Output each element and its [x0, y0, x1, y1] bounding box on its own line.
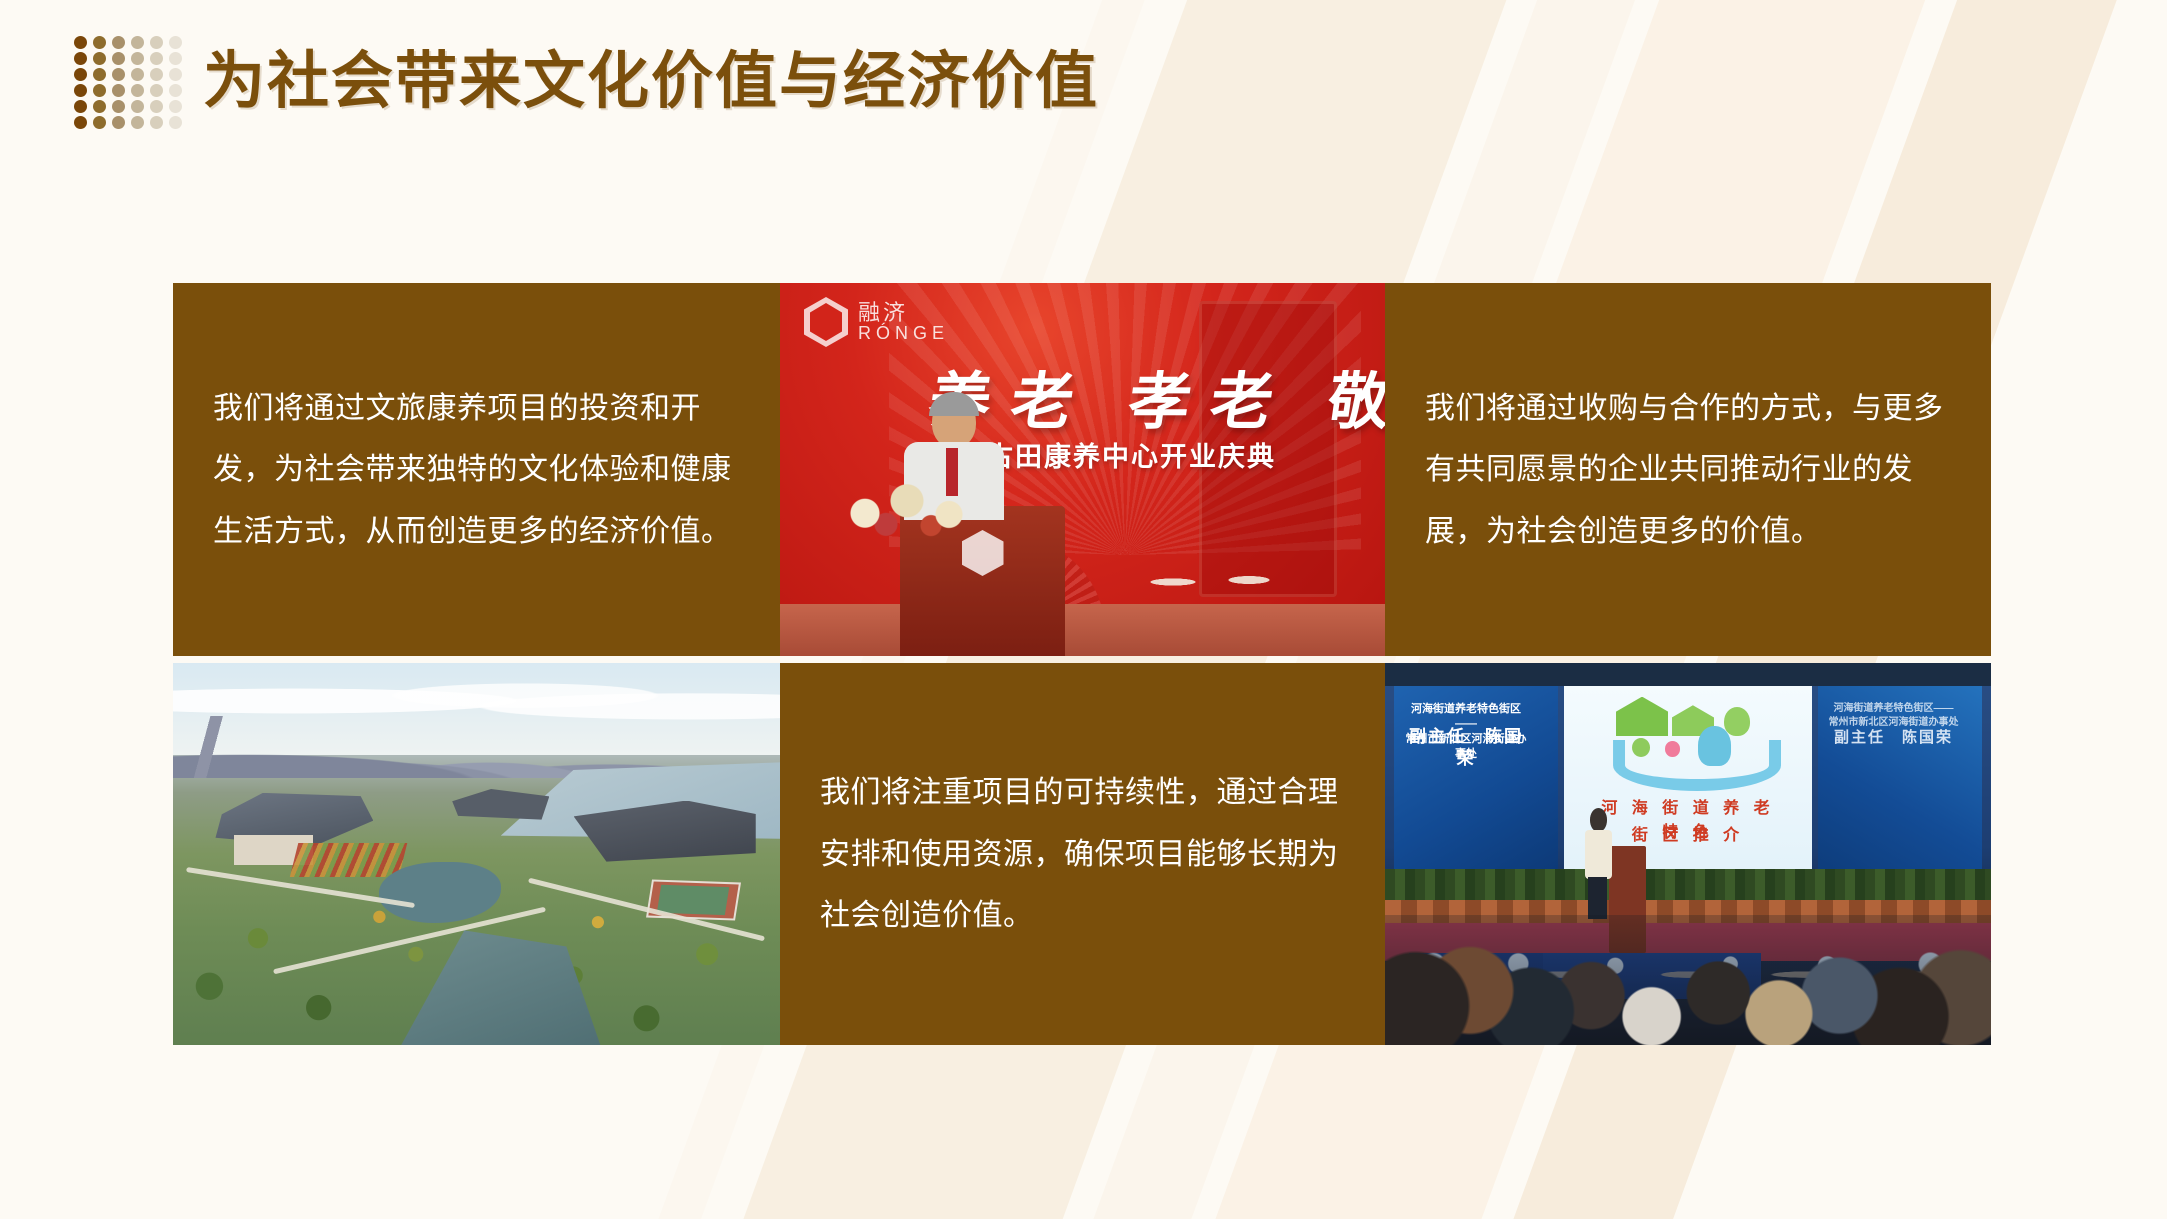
decor-dot: [112, 68, 125, 81]
speaker-hair: [929, 392, 979, 416]
decor-dot: [112, 52, 125, 65]
decor-dot: [150, 84, 163, 97]
decor-dot: [93, 116, 106, 129]
decor-dot: [150, 100, 163, 113]
decor-dot: [131, 68, 144, 81]
flower-arrangement: [832, 476, 982, 538]
decor-dot: [169, 36, 182, 49]
decor-dot: [74, 100, 87, 113]
audience-crowd: [1385, 915, 1991, 1045]
decor-dot: [131, 52, 144, 65]
conference-photo-image: 河海街道养老特色街区—— 常州市新北区河海街道办事处 副主任 陈国荣 河 海 街…: [1385, 663, 1991, 1045]
center-screen-line2: 街 区 推 介: [1589, 821, 1788, 845]
ronge-logo: 融济 RÓNGE: [804, 297, 949, 347]
conference-speaker-figure: [1585, 808, 1612, 915]
left-screen-title: 副主任 陈国荣: [1404, 726, 1528, 770]
house-icon: [1616, 697, 1668, 737]
decor-dot: [150, 116, 163, 129]
card-ceremony-photo: 融济 RÓNGE 养老 孝老 敬老 融济古田康养中心开业庆典: [780, 283, 1385, 656]
decor-dot: [74, 36, 87, 49]
card-sustainability-text: 我们将注重项目的可持续性，通过合理安排和使用资源，确保项目能够长期为社会创造价值…: [780, 762, 1385, 947]
speaker-legs: [1588, 877, 1607, 920]
decor-dot: [74, 68, 87, 81]
right-screen-subtitle: 河海街道养老特色街区—— 常州市新北区河海街道办事处: [1828, 702, 1959, 729]
eldercare-logo-icon: [1606, 692, 1770, 778]
resort-aerial-image: [173, 663, 780, 1045]
slide-header: 为社会带来文化价值与经济价值: [0, 0, 2167, 170]
logo-text-cn: 融济: [858, 301, 949, 324]
speaker-body: [1585, 830, 1612, 879]
decor-dot: [93, 100, 106, 113]
right-screen-title: 副主任 陈国荣: [1828, 728, 1959, 748]
decor-dot: [74, 52, 87, 65]
tree-icon: [1724, 707, 1750, 736]
ceiling-band: [1385, 663, 1991, 686]
decor-dot: [93, 52, 106, 65]
card-acquisition-cooperation: 我们将通过收购与合作的方式，与更多有共同愿景的企业共同推动行业的发展，为社会创造…: [1385, 283, 1991, 656]
card-culture-economy: 我们将通过文旅康养项目的投资和开发，为社会带来独特的文化体验和健康生活方式，从而…: [173, 283, 780, 656]
crane-birds-decoration-icon: [1135, 558, 1325, 598]
flower-icon: [1665, 741, 1680, 756]
card-sustainability: 我们将注重项目的可持续性，通过合理安排和使用资源，确保项目能够长期为社会创造价值…: [780, 663, 1385, 1045]
decor-dot: [93, 36, 106, 49]
decor-dot: [131, 116, 144, 129]
decor-dot: [131, 36, 144, 49]
decor-dot: [169, 84, 182, 97]
speaker-head: [1590, 808, 1607, 832]
logo-bar-icon: [816, 324, 836, 329]
decor-dot: [131, 100, 144, 113]
card-conference-photo: 河海街道养老特色街区—— 常州市新北区河海街道办事处 副主任 陈国荣 河 海 街…: [1385, 663, 1991, 1045]
decor-dot: [150, 68, 163, 81]
card-resort-aerial-photo: [173, 663, 780, 1045]
stage-floor: [780, 604, 1385, 656]
decor-dot: [150, 52, 163, 65]
ceremony-photo-image: 融济 RÓNGE 养老 孝老 敬老 融济古田康养中心开业庆典: [780, 283, 1385, 656]
card-acquisition-cooperation-text: 我们将通过收购与合作的方式，与更多有共同愿景的企业共同推动行业的发展，为社会创造…: [1385, 377, 1991, 562]
right-screen-line2: 常州市新北区河海街道办事处: [1829, 717, 1959, 728]
decor-dot: [169, 100, 182, 113]
left-led-screen: 河海街道养老特色街区—— 常州市新北区河海街道办事处 副主任 陈国荣: [1394, 686, 1558, 869]
decor-dot: [93, 84, 106, 97]
elder-person-icon: [1698, 726, 1731, 766]
right-screen-line1: 河海街道养老特色街区——: [1834, 703, 1954, 714]
decor-dot: [169, 52, 182, 65]
right-led-screen: 河海街道养老特色街区—— 常州市新北区河海街道办事处 副主任 陈国荣: [1818, 686, 1982, 869]
decor-dot: [169, 116, 182, 129]
content-grid: 我们将通过文旅康养项目的投资和开发，为社会带来独特的文化体验和健康生活方式，从而…: [173, 283, 1991, 1045]
decor-dot: [131, 84, 144, 97]
decor-dot: [112, 100, 125, 113]
decor-dot: [112, 84, 125, 97]
page-title: 为社会带来文化价值与经济价值: [203, 48, 1099, 116]
decor-dot: [112, 36, 125, 49]
logo-bar-icon: [816, 313, 836, 318]
card-culture-economy-text: 我们将通过文旅康养项目的投资和开发，为社会带来独特的文化体验和健康生活方式，从而…: [173, 377, 780, 562]
decor-dot: [150, 36, 163, 49]
decor-dot: [169, 68, 182, 81]
decor-dot: [93, 68, 106, 81]
decor-dot: [112, 116, 125, 129]
decor-dot: [74, 116, 87, 129]
logo-text-en: RÓNGE: [858, 324, 949, 343]
hexagon-logo-icon: [804, 297, 848, 347]
dot-grid-decoration-icon: [74, 36, 188, 132]
decor-dot: [74, 84, 87, 97]
